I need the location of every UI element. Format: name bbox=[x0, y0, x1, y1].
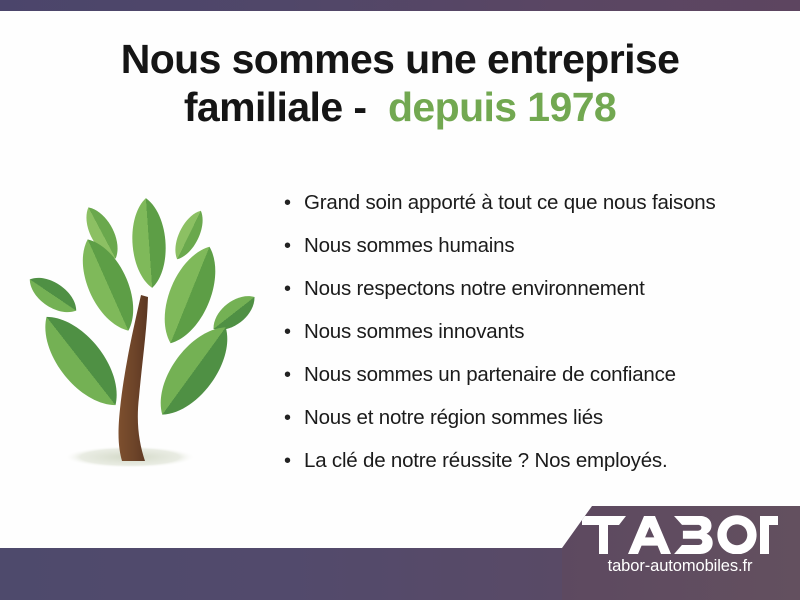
list-item-label: Nous sommes humains bbox=[304, 233, 514, 259]
list-item: • Nous et notre région sommes liés bbox=[284, 405, 784, 448]
bullet-marker-icon: • bbox=[284, 405, 304, 431]
top-accent-band bbox=[0, 0, 800, 11]
list-item-label: Grand soin apporté à tout ce que nous fa… bbox=[304, 190, 716, 216]
title-line-2-plain: familiale - bbox=[184, 84, 367, 130]
bullet-marker-icon: • bbox=[284, 362, 304, 388]
tree-leaf bbox=[129, 197, 168, 289]
bullet-list: • Grand soin apporté à tout ce que nous … bbox=[284, 190, 784, 491]
list-item-label: Nous et notre région sommes liés bbox=[304, 405, 603, 431]
list-item: • Nous sommes innovants bbox=[284, 319, 784, 362]
bullet-marker-icon: • bbox=[284, 190, 304, 216]
brand-domain-label: tabor-automobiles.fr bbox=[608, 557, 753, 576]
list-item-label: La clé de notre réussite ? Nos employés. bbox=[304, 448, 667, 474]
bullet-marker-icon: • bbox=[284, 276, 304, 302]
slide-canvas: Nous sommes une entreprise familiale - d… bbox=[0, 0, 800, 600]
list-item-label: Nous respectons notre environnement bbox=[304, 276, 645, 302]
tree-illustration bbox=[18, 185, 268, 485]
list-item: • Grand soin apporté à tout ce que nous … bbox=[284, 190, 784, 233]
bullet-marker-icon: • bbox=[284, 448, 304, 474]
list-item: • Nous respectons notre environnement bbox=[284, 276, 784, 319]
slide-title: Nous sommes une entreprise familiale - d… bbox=[0, 36, 800, 131]
list-item: • La clé de notre réussite ? Nos employé… bbox=[284, 448, 784, 491]
bullet-marker-icon: • bbox=[284, 319, 304, 345]
list-item-label: Nous sommes innovants bbox=[304, 319, 524, 345]
title-line-2-accent: depuis 1978 bbox=[388, 84, 616, 130]
brand-logo-block[interactable]: tabor-automobiles.fr bbox=[560, 504, 800, 600]
title-line-1: Nous sommes une entreprise bbox=[0, 36, 800, 84]
list-item: • Nous sommes humains bbox=[284, 233, 784, 276]
bullet-marker-icon: • bbox=[284, 233, 304, 259]
list-item: • Nous sommes un partenaire de confiance bbox=[284, 362, 784, 405]
tree-icon bbox=[18, 185, 268, 485]
title-line-2: familiale - depuis 1978 bbox=[0, 84, 800, 132]
brand-logo-inner: tabor-automobiles.fr bbox=[560, 504, 800, 600]
tabor-wordmark-icon bbox=[582, 514, 778, 554]
tree-leaf bbox=[23, 269, 83, 320]
list-item-label: Nous sommes un partenaire de confiance bbox=[304, 362, 676, 388]
tree-leaf bbox=[145, 315, 242, 427]
